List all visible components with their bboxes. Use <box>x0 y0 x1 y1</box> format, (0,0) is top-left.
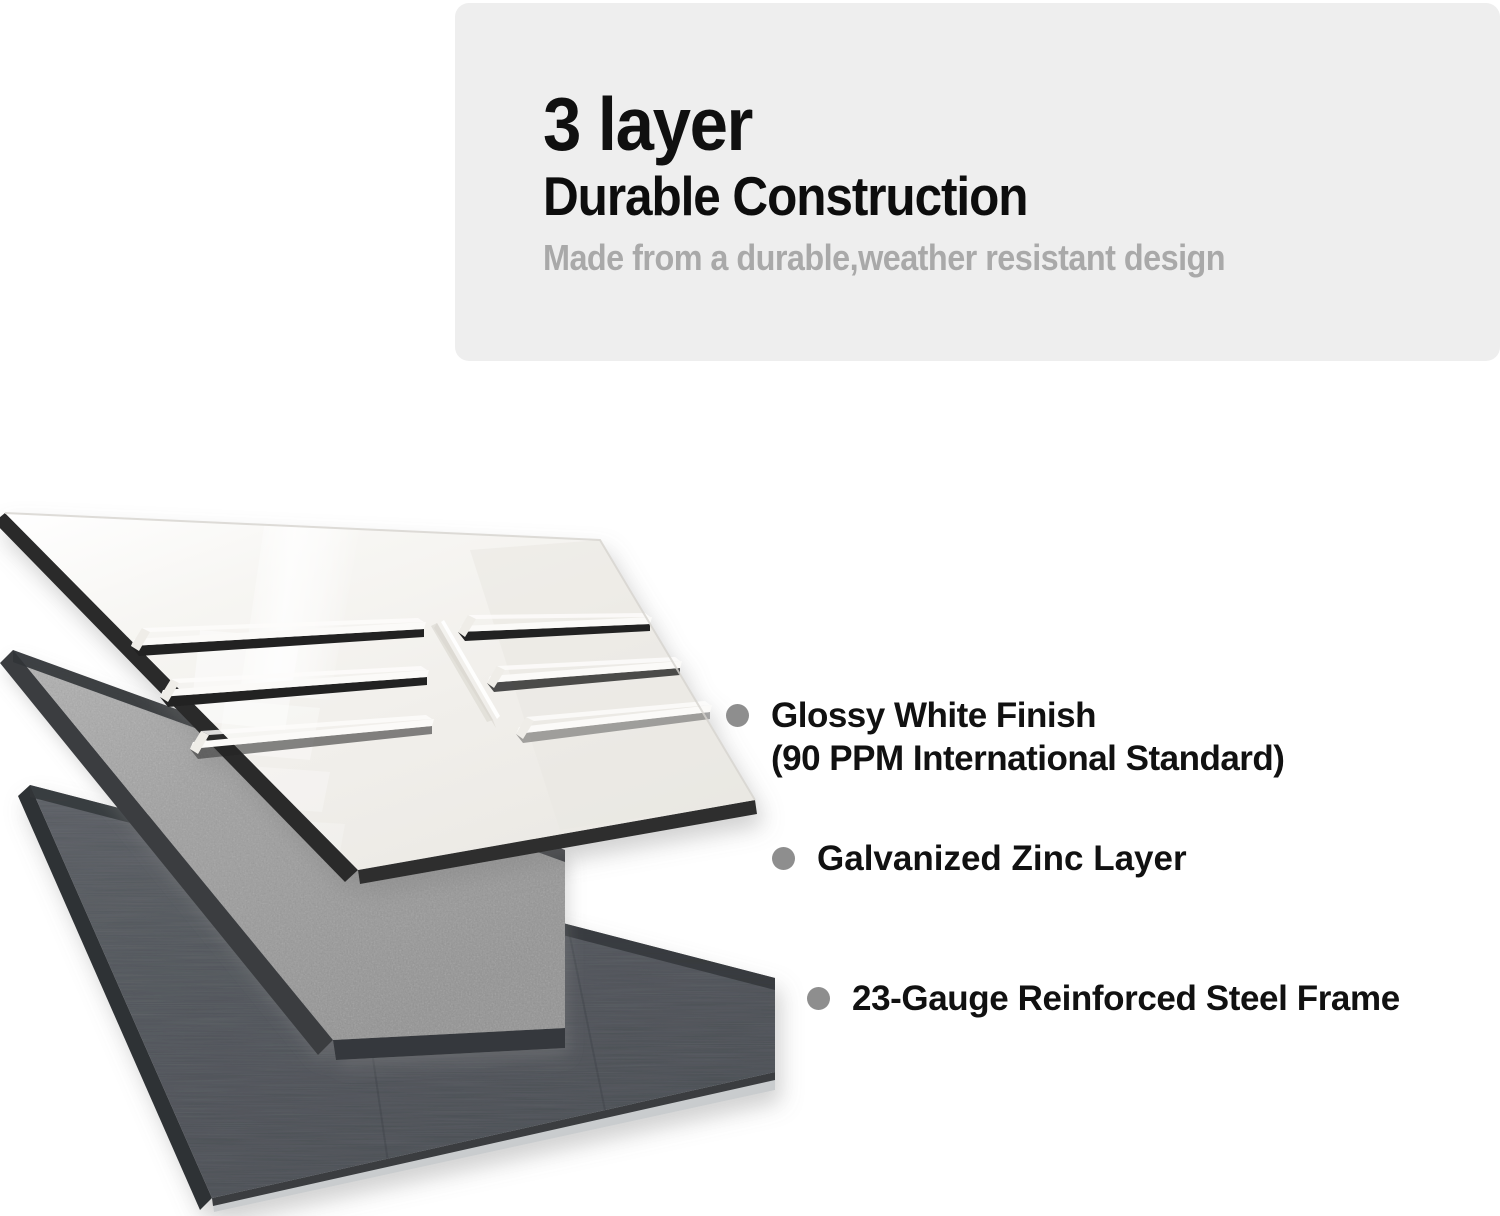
title-block: 3 layer Durable Construction Made from a… <box>543 88 1473 278</box>
feature-item-glossy-white-finish: Glossy White Finish (90 PPM Internationa… <box>726 695 1284 780</box>
feature-label: 23-Gauge Reinforced Steel Frame <box>852 978 1400 1021</box>
feature-item-galvanized-zinc-layer: Galvanized Zinc Layer <box>772 838 1187 881</box>
bullet-dot-icon <box>772 847 795 870</box>
page-subtitle: Durable Construction <box>543 166 1380 228</box>
page-description: Made from a durable,weather resistant de… <box>543 237 1380 278</box>
feature-label-line2: (90 PPM International Standard) <box>771 738 1284 781</box>
feature-label-line1: Glossy White Finish <box>771 696 1096 735</box>
bullet-dot-icon <box>807 987 830 1010</box>
feature-label: Galvanized Zinc Layer <box>817 838 1187 881</box>
exploded-layer-illustration <box>0 400 830 1216</box>
feature-item-steel-frame: 23-Gauge Reinforced Steel Frame <box>807 978 1400 1021</box>
header-panel: 3 layer Durable Construction Made from a… <box>455 3 1500 361</box>
bullet-dot-icon <box>726 704 749 727</box>
feature-label: Glossy White Finish (90 PPM Internationa… <box>771 695 1284 780</box>
page-title: 3 layer <box>543 88 1399 162</box>
